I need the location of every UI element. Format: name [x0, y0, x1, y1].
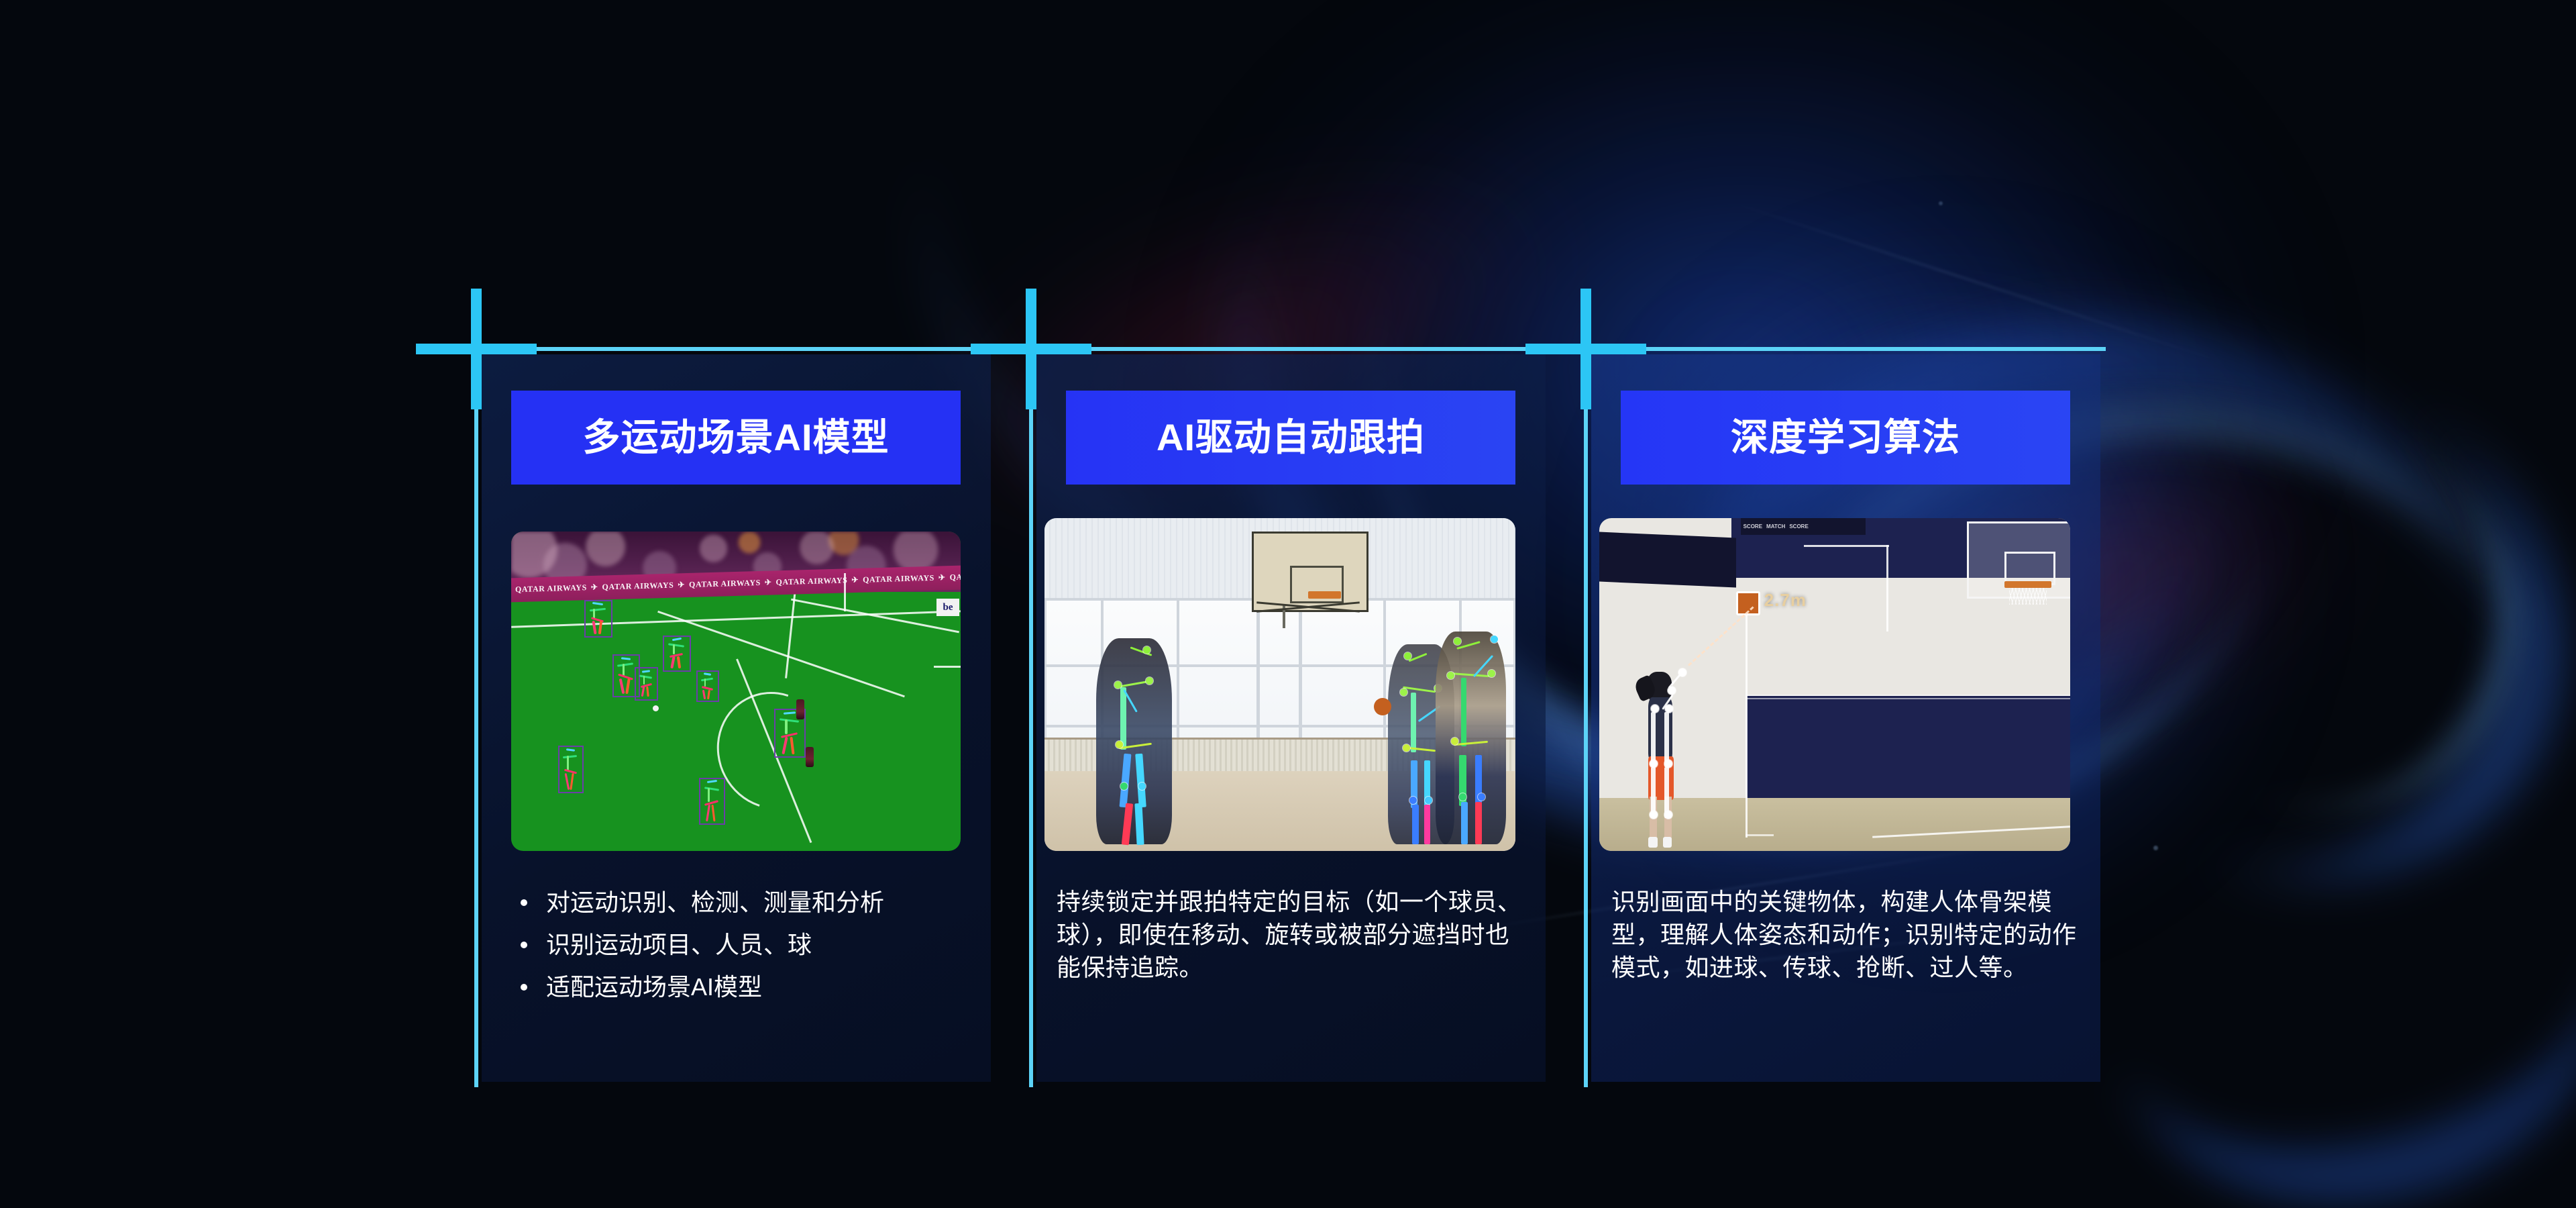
detection-box — [558, 746, 584, 793]
background-ribbon-6 — [2036, 350, 2576, 872]
detection-box — [696, 670, 718, 702]
detection-box — [663, 636, 691, 672]
gym-basketball-pose-thumbnail — [1044, 518, 1515, 851]
card-body: 对运动识别、检测、测量和分析 识别运动项目、人员、球 适配运动场景AI模型 — [515, 887, 969, 1013]
pose-skeleton — [1632, 664, 1693, 848]
rim-icon — [2004, 581, 2051, 588]
background-speck-2 — [2153, 846, 2158, 850]
trajectory-line — [1688, 607, 1754, 666]
pose-skeleton — [1096, 638, 1171, 845]
list-item: 适配运动场景AI模型 — [515, 972, 969, 1003]
card-body: 识别画面中的关键物体，构建人体骨架模型，理解人体姿态和动作；识别特定的动作模式，… — [1611, 886, 2086, 985]
card-title-text: 深度学习算法 — [1731, 419, 1960, 456]
ad-banner-text: QATAR AIRWAYS — [511, 583, 587, 595]
detection-box — [699, 778, 725, 825]
card-title-bar: 深度学习算法 — [1621, 391, 2070, 485]
card-title-text: 多运动场景AI模型 — [583, 419, 890, 456]
feature-card-multi-sport-ai-model[interactable]: 多运动场景AI模型 QATAR AIRWAYS ✈ QATAR AIRWAYS✈… — [476, 349, 996, 1087]
card-title-text: AI驱动自动跟拍 — [1157, 419, 1425, 456]
list-item: 对运动识别、检测、测量和分析 — [515, 887, 969, 919]
card-title-bar: AI驱动自动跟拍 — [1066, 391, 1515, 485]
scoreboard: SCORE MATCH SCORE — [1741, 518, 1866, 535]
background-streak-3 — [1723, 199, 2235, 366]
ball — [653, 705, 659, 711]
scoreboard-label: SCORE — [1789, 523, 1808, 530]
soccer-pitch-detection-thumbnail: QATAR AIRWAYS ✈ QATAR AIRWAYS✈ QATAR AIR… — [511, 532, 961, 851]
scoreboard-label: MATCH — [1766, 523, 1785, 530]
feature-bullet-list: 对运动识别、检测、测量和分析 识别运动项目、人员、球 适配运动场景AI模型 — [515, 887, 969, 1003]
card-body: 持续锁定并跟拍特定的目标（如一个球员、球），即使在移动、旋转或被部分遮挡时也能保… — [1057, 886, 1531, 985]
background-ribbon-7 — [2071, 738, 2576, 1208]
undetected-player — [796, 699, 804, 719]
detection-box — [584, 600, 613, 637]
court-shot-measurement-thumbnail: SCORE MATCH SCORE 2.7m — [1599, 518, 2070, 851]
rim-icon — [1308, 591, 1341, 599]
card-description: 识别画面中的关键物体，构建人体骨架模型，理解人体姿态和动作；识别特定的动作模式，… — [1611, 886, 2086, 985]
measure-label: 2.7m — [1764, 590, 1807, 611]
feature-card-row: 多运动场景AI模型 QATAR AIRWAYS ✈ QATAR AIRWAYS✈… — [476, 349, 2106, 1087]
feature-card-deep-learning-algorithm[interactable]: 深度学习算法 SCORE MATCH SCORE — [1586, 349, 2106, 1087]
backboard — [1252, 532, 1368, 612]
list-item: 识别运动项目、人员、球 — [515, 929, 969, 961]
detection-box — [635, 667, 658, 700]
card-title-bar: 多运动场景AI模型 — [511, 391, 961, 485]
feature-card-ai-auto-tracking[interactable]: AI驱动自动跟拍 — [1031, 349, 1551, 1087]
card-description: 持续锁定并跟拍特定的目标（如一个球员、球），即使在移动、旋转或被部分遮挡时也能保… — [1057, 886, 1531, 985]
pose-skeleton — [1436, 632, 1506, 844]
undetected-player — [806, 747, 814, 767]
background-speck-3 — [1939, 201, 1943, 205]
scoreboard-label: SCORE — [1743, 523, 1762, 530]
